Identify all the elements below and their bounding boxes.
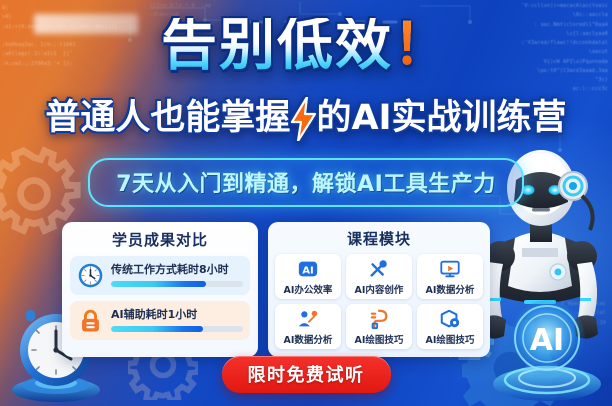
module-label: AI绘图技巧: [426, 332, 475, 346]
page-title: 告别低效！: [161, 18, 451, 74]
cta-container: 限时免费试听: [150, 356, 462, 393]
comparison-label: AI辅助耗时1小时: [111, 309, 243, 321]
headline-container: 告别低效！: [0, 18, 612, 74]
lock-icon: [77, 307, 104, 334]
cards-row: 学员成果对比 传统工作方式耗时8小时: [62, 222, 490, 357]
module-item-data-analysis-top[interactable]: AI数据分析: [417, 254, 483, 299]
clock-icon: [77, 262, 104, 289]
user-analytics-icon: [297, 308, 319, 330]
module-label: AI办公效率: [284, 282, 333, 296]
module-item-office-efficiency[interactable]: AI AI办公效率: [275, 254, 341, 299]
subheadline-part-2: 的AI实战训练营: [316, 101, 566, 136]
tagline-container: 7天从入门到精通，解锁AI工具生产力: [0, 158, 612, 207]
student-results-title: 学员成果对比: [70, 229, 250, 250]
ai-hologram-icon: AI: [488, 292, 606, 404]
ai-badge-icon: AI: [297, 258, 319, 280]
module-label: AI数据分析: [426, 282, 475, 296]
modules-grid: AI AI办公效率 AI内容创作: [275, 254, 483, 349]
module-item-data-analysis-bottom[interactable]: AI数据分析: [275, 304, 341, 349]
comparison-row-traditional: 传统工作方式耗时8小时: [70, 256, 250, 295]
paint-brush-icon: [368, 308, 390, 330]
comparison-body: 传统工作方式耗时8小时: [111, 264, 243, 286]
progress-bar-ai: [111, 326, 243, 332]
svg-text:AI: AI: [302, 266, 314, 277]
comparison-label: 传统工作方式耗时8小时: [111, 264, 243, 276]
module-item-drawing-skills-left[interactable]: AI绘图技巧: [346, 304, 412, 349]
progress-bar-traditional: [111, 281, 243, 287]
subheadline: 普通人也能掌握 的AI实战训练营: [45, 96, 566, 140]
lightning-bolt-icon: [288, 97, 318, 141]
student-results-card: 学员成果对比 传统工作方式耗时8小时: [62, 222, 258, 357]
comparison-body: AI辅助耗时1小时: [111, 309, 243, 331]
microphone-pen-icon: [368, 258, 390, 280]
module-label: AI内容创作: [355, 282, 404, 296]
hexagon-gear-icon: [439, 308, 461, 330]
headline-exclamation: ！: [393, 13, 451, 78]
free-trial-button[interactable]: 限时免费试听: [222, 356, 391, 393]
subheadline-part-1: 普通人也能掌握: [45, 101, 290, 136]
module-item-content-creation[interactable]: AI内容创作: [346, 254, 412, 299]
comparison-row-ai: AI辅助耗时1小时: [70, 301, 250, 340]
course-modules-title: 课程模块: [275, 228, 483, 249]
headline-text: 告别低效: [161, 13, 393, 78]
course-modules-card: 课程模块 AI AI办公效率 AI内容创作: [268, 222, 490, 357]
subheadline-container: 普通人也能掌握 的AI实战训练营: [0, 96, 612, 140]
module-label: AI数据分析: [284, 332, 333, 346]
poster-root: $| >0| :a1:>j0;aein::t(:(pa:iz1360::3Q)}…: [0, 0, 612, 406]
module-label: AI绘图技巧: [355, 332, 404, 346]
module-item-drawing-skills-right[interactable]: AI绘图技巧: [417, 304, 483, 349]
monitor-play-icon: [439, 258, 461, 280]
ai-hologram-label: AI: [530, 323, 564, 358]
tagline: 7天从入门到精通，解锁AI工具生产力: [88, 158, 524, 207]
